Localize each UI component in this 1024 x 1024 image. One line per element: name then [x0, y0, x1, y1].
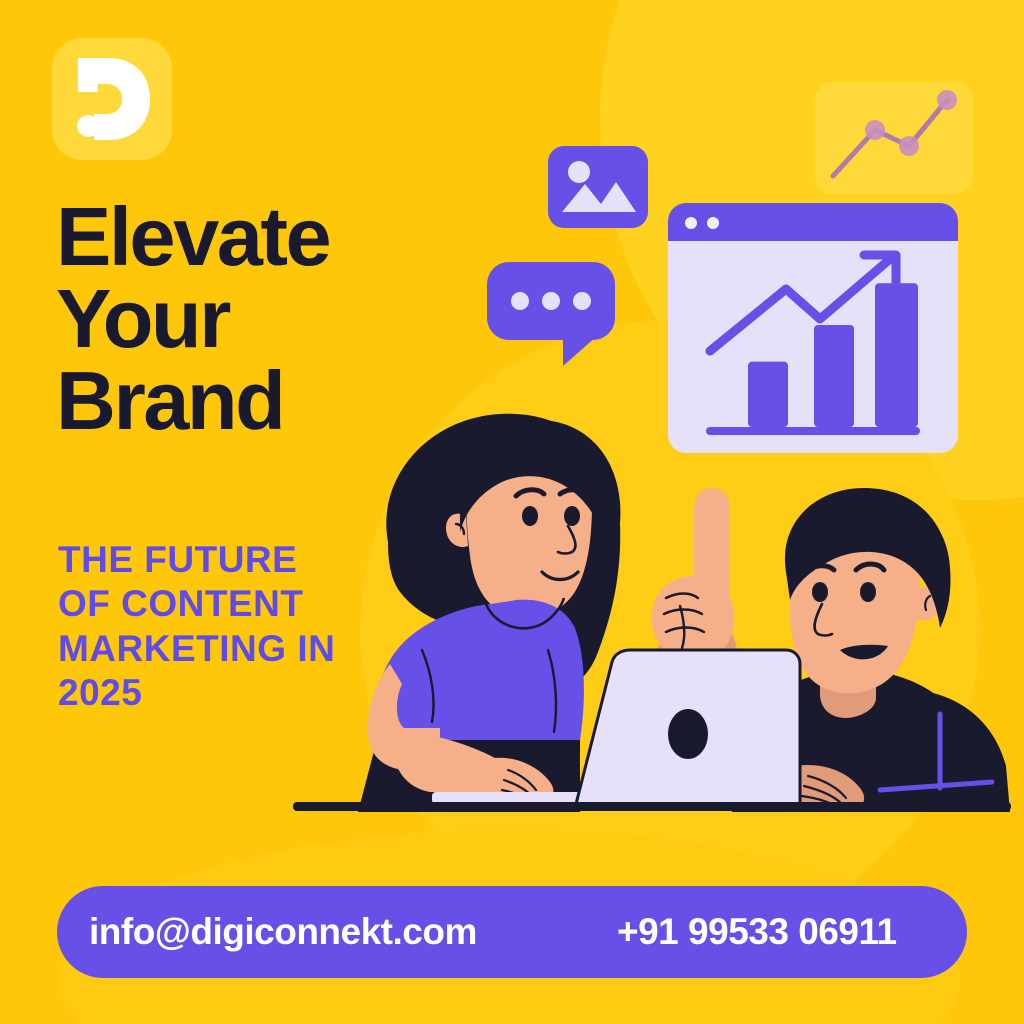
contact-bar[interactable]: info@digiconnekt.com +91 99533 06911	[57, 886, 967, 978]
people-illustration	[280, 392, 1024, 824]
chat-bubble-tail	[563, 336, 597, 366]
browser-dot-1	[685, 217, 697, 229]
image-icon-glyph	[548, 146, 648, 228]
chat-dot-1	[511, 292, 529, 310]
line-chart-card	[815, 82, 973, 194]
chat-dot-3	[573, 292, 591, 310]
contact-email[interactable]: info@digiconnekt.com	[89, 911, 477, 953]
poster-canvas: Elevate Your Brand THE FUTURE OF CONTENT…	[0, 0, 1024, 1024]
browser-dot-2	[707, 217, 719, 229]
chat-bubble-icon	[487, 262, 615, 340]
line-chart-icon	[815, 82, 973, 194]
headline-line-2: Your	[56, 278, 486, 360]
desk-edge-line	[293, 802, 1011, 811]
image-icon	[548, 146, 648, 228]
contact-phone[interactable]: +91 99533 06911	[617, 911, 897, 953]
chat-dot-2	[542, 292, 560, 310]
headline-line-1: Elevate	[56, 196, 486, 278]
brand-logo[interactable]	[52, 38, 172, 160]
browser-title-bar	[668, 203, 958, 241]
logo-d-mark	[74, 58, 150, 140]
